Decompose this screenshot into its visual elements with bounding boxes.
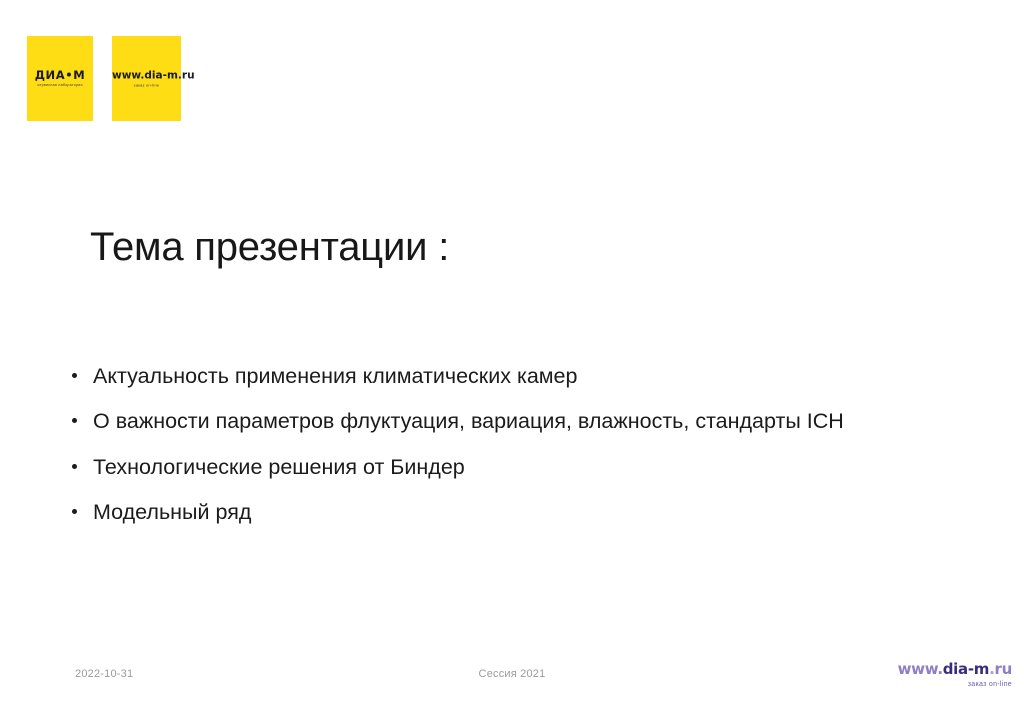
bullet-item: Актуальность применения климатических ка… bbox=[70, 362, 860, 390]
dia-m-url-logo-tile: www.dia-m.ru заказ on-line bbox=[112, 36, 181, 121]
bullet-item: О важности параметров флуктуация, вариац… bbox=[70, 407, 860, 435]
dia-m-logo-wordmark: ДИА•М bbox=[27, 70, 93, 82]
footer-dia-m-logo: www.dia-m.ru заказ on-line bbox=[898, 662, 1012, 688]
bullet-dot-icon bbox=[72, 418, 77, 423]
bullet-dot-icon bbox=[72, 373, 77, 378]
footer-logo-tld: ru bbox=[995, 660, 1012, 678]
dia-m-logo-tile: ДИА•М сервисная лаборатория bbox=[27, 36, 93, 121]
brand-lockup: ДИА•М сервисная лаборатория www.dia-m.ru… bbox=[27, 36, 181, 121]
bullet-text: Актуальность применения климатических ка… bbox=[93, 364, 577, 388]
bullet-item: Технологические решения от Биндер bbox=[70, 453, 860, 481]
bullet-item: Модельный ряд bbox=[70, 498, 860, 526]
bullet-dot-icon bbox=[72, 464, 77, 469]
bullet-dot-icon bbox=[72, 509, 77, 514]
slide-bullet-list: Актуальность применения климатических ка… bbox=[70, 362, 860, 527]
bullet-text: Технологические решения от Биндер bbox=[93, 455, 465, 479]
slide-title: Тема презентации : bbox=[90, 225, 449, 270]
presentation-slide: ДИА•М сервисная лаборатория www.dia-m.ru… bbox=[0, 0, 1024, 709]
footer-logo-main: dia-m bbox=[943, 660, 989, 678]
bullet-text: О важности параметров флуктуация, вариац… bbox=[93, 409, 844, 433]
footer-logo-tagline: заказ on-line bbox=[898, 681, 1012, 688]
bullet-text: Модельный ряд bbox=[93, 500, 251, 524]
footer-session-label: Сессия 2021 bbox=[0, 668, 1024, 680]
dia-m-url-logo-content: www.dia-m.ru заказ on-line bbox=[112, 70, 181, 88]
dia-m-url-wordmark: www.dia-m.ru bbox=[112, 70, 181, 81]
dia-m-url-subtitle: заказ on-line bbox=[112, 83, 181, 87]
dia-m-logo-content: ДИА•М сервисная лаборатория bbox=[27, 70, 93, 88]
footer-logo-www: www. bbox=[898, 660, 943, 678]
footer-logo-url: www.dia-m.ru bbox=[898, 662, 1012, 677]
dia-m-logo-subtitle: сервисная лаборатория bbox=[27, 84, 93, 88]
